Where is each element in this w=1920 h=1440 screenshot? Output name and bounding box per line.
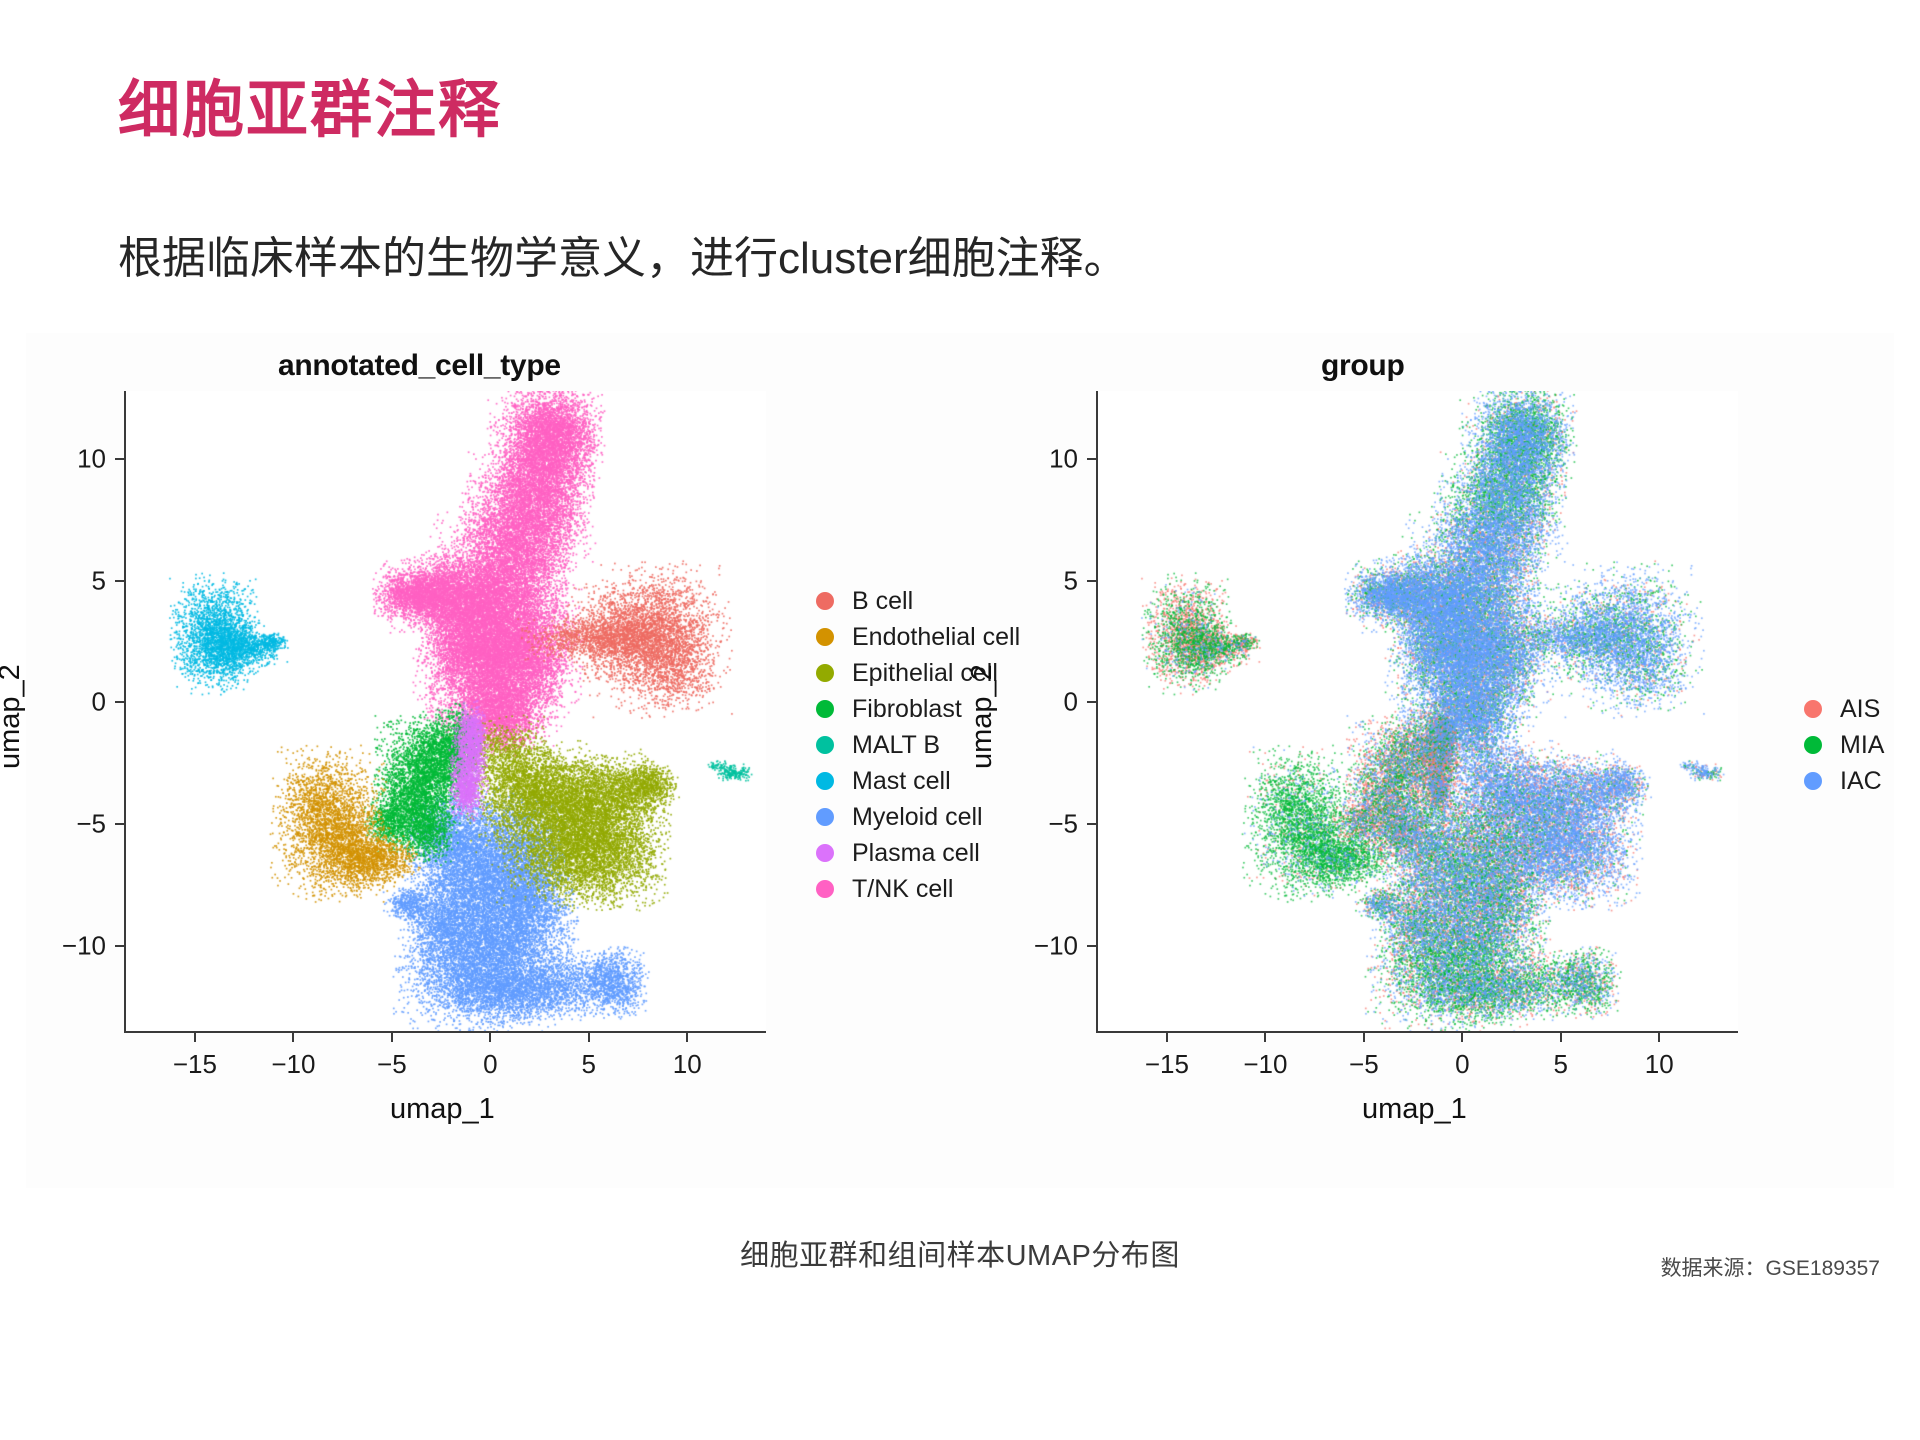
x-tick-label: 10 — [1645, 1049, 1674, 1080]
x-tick — [1264, 1033, 1266, 1042]
page-title: 细胞亚群注释 — [118, 78, 502, 143]
x-tick-label: −15 — [1145, 1049, 1189, 1080]
x-tick — [1560, 1033, 1562, 1042]
legend-swatch-dot-icon — [1804, 772, 1822, 790]
legend-item-label: Fibroblast — [852, 697, 962, 722]
legend-item-label: Myeloid cell — [852, 805, 983, 830]
panel-annotated-cell-type: annotated_cell_type 1050−5−10−15−10−5051… — [26, 333, 966, 1188]
legend-swatch-dot-icon — [816, 592, 834, 610]
x-tick — [1363, 1033, 1365, 1042]
y-axis-spine — [1096, 391, 1098, 1031]
x-tick — [588, 1033, 590, 1042]
legend-item-label: Plasma cell — [852, 841, 980, 866]
legend-swatch-dot-icon — [816, 664, 834, 682]
x-tick-label: 0 — [1455, 1049, 1469, 1080]
x-tick-label: −10 — [1243, 1049, 1287, 1080]
legend-swatch-dot-icon — [816, 880, 834, 898]
y-tick — [115, 945, 124, 947]
legend-item-label: B cell — [852, 589, 913, 614]
figure-caption: 细胞亚群和组间样本UMAP分布图 — [0, 1232, 1920, 1274]
x-tick-label: 10 — [673, 1049, 702, 1080]
axis-label-x-right: umap_1 — [1362, 1093, 1467, 1126]
legend-item-label: AIS — [1840, 697, 1880, 722]
y-tick-label: 10 — [986, 444, 1078, 475]
y-tick-label: 0 — [14, 687, 106, 718]
x-tick — [194, 1033, 196, 1042]
x-tick-label: −5 — [1349, 1049, 1379, 1080]
x-tick-label: −10 — [271, 1049, 315, 1080]
legend-group: AISMIAIAC — [1804, 691, 1884, 799]
y-tick-label: 5 — [986, 565, 1078, 596]
page-subtitle: 根据临床样本的生物学意义，进行cluster细胞注释。 — [118, 222, 1128, 286]
y-tick-label: −5 — [986, 809, 1078, 840]
legend-item[interactable]: IAC — [1804, 763, 1884, 799]
x-tick-label: 5 — [1554, 1049, 1568, 1080]
legend-swatch-dot-icon — [1804, 700, 1822, 718]
x-axis-spine — [1096, 1031, 1738, 1033]
x-tick-label: 5 — [582, 1049, 596, 1080]
umap-plot-annotated-cell-type — [126, 391, 766, 1031]
y-tick — [1087, 701, 1096, 703]
legend-swatch-dot-icon — [816, 628, 834, 646]
umap-plot-group — [1098, 391, 1738, 1031]
panel-title-left: annotated_cell_type — [278, 349, 561, 383]
legend-swatch-dot-icon — [816, 772, 834, 790]
axis-label-y-left: umap_2 — [0, 664, 27, 769]
x-tick-label: −5 — [377, 1049, 407, 1080]
x-tick — [489, 1033, 491, 1042]
y-tick — [115, 823, 124, 825]
y-tick — [115, 701, 124, 703]
panel-group: group 1050−5−10−15−10−50510 umap_2 umap_… — [966, 333, 1894, 1188]
x-tick-label: 0 — [483, 1049, 497, 1080]
y-tick — [1087, 823, 1096, 825]
x-axis-spine — [124, 1031, 766, 1033]
legend-swatch-dot-icon — [816, 808, 834, 826]
legend-item-label: Mast cell — [852, 769, 951, 794]
y-tick — [1087, 580, 1096, 582]
axis-label-y-right: umap_2 — [966, 664, 999, 769]
y-axis-spine — [124, 391, 126, 1031]
data-source-note: 数据来源：GSE189357 — [1661, 1252, 1880, 1282]
y-tick-label: −10 — [986, 930, 1078, 961]
legend-item-label: IAC — [1840, 769, 1882, 794]
y-tick — [115, 458, 124, 460]
y-tick-label: −10 — [14, 930, 106, 961]
x-tick — [1461, 1033, 1463, 1042]
legend-item-label: MALT B — [852, 733, 940, 758]
axis-label-x-left: umap_1 — [390, 1093, 495, 1126]
y-tick — [1087, 458, 1096, 460]
y-tick-label: 5 — [14, 565, 106, 596]
x-tick — [391, 1033, 393, 1042]
y-tick — [1087, 945, 1096, 947]
x-tick-label: −15 — [173, 1049, 217, 1080]
legend-swatch-dot-icon — [816, 736, 834, 754]
legend-item-label: T/NK cell — [852, 877, 953, 902]
x-tick — [1658, 1033, 1660, 1042]
x-tick — [292, 1033, 294, 1042]
panel-title-right: group — [1321, 349, 1404, 383]
y-tick-label: 10 — [14, 444, 106, 475]
x-tick — [686, 1033, 688, 1042]
figure-container: annotated_cell_type 1050−5−10−15−10−5051… — [26, 333, 1894, 1188]
legend-item-label: MIA — [1840, 733, 1884, 758]
y-tick-label: 0 — [986, 687, 1078, 718]
legend-swatch-dot-icon — [816, 844, 834, 862]
y-tick-label: −5 — [14, 809, 106, 840]
legend-item[interactable]: MIA — [1804, 727, 1884, 763]
x-tick — [1166, 1033, 1168, 1042]
legend-swatch-dot-icon — [1804, 736, 1822, 754]
slide-root: 细胞亚群注释 根据临床样本的生物学意义，进行cluster细胞注释。 annot… — [0, 0, 1920, 1440]
legend-swatch-dot-icon — [816, 700, 834, 718]
y-tick — [115, 580, 124, 582]
legend-item[interactable]: AIS — [1804, 691, 1884, 727]
